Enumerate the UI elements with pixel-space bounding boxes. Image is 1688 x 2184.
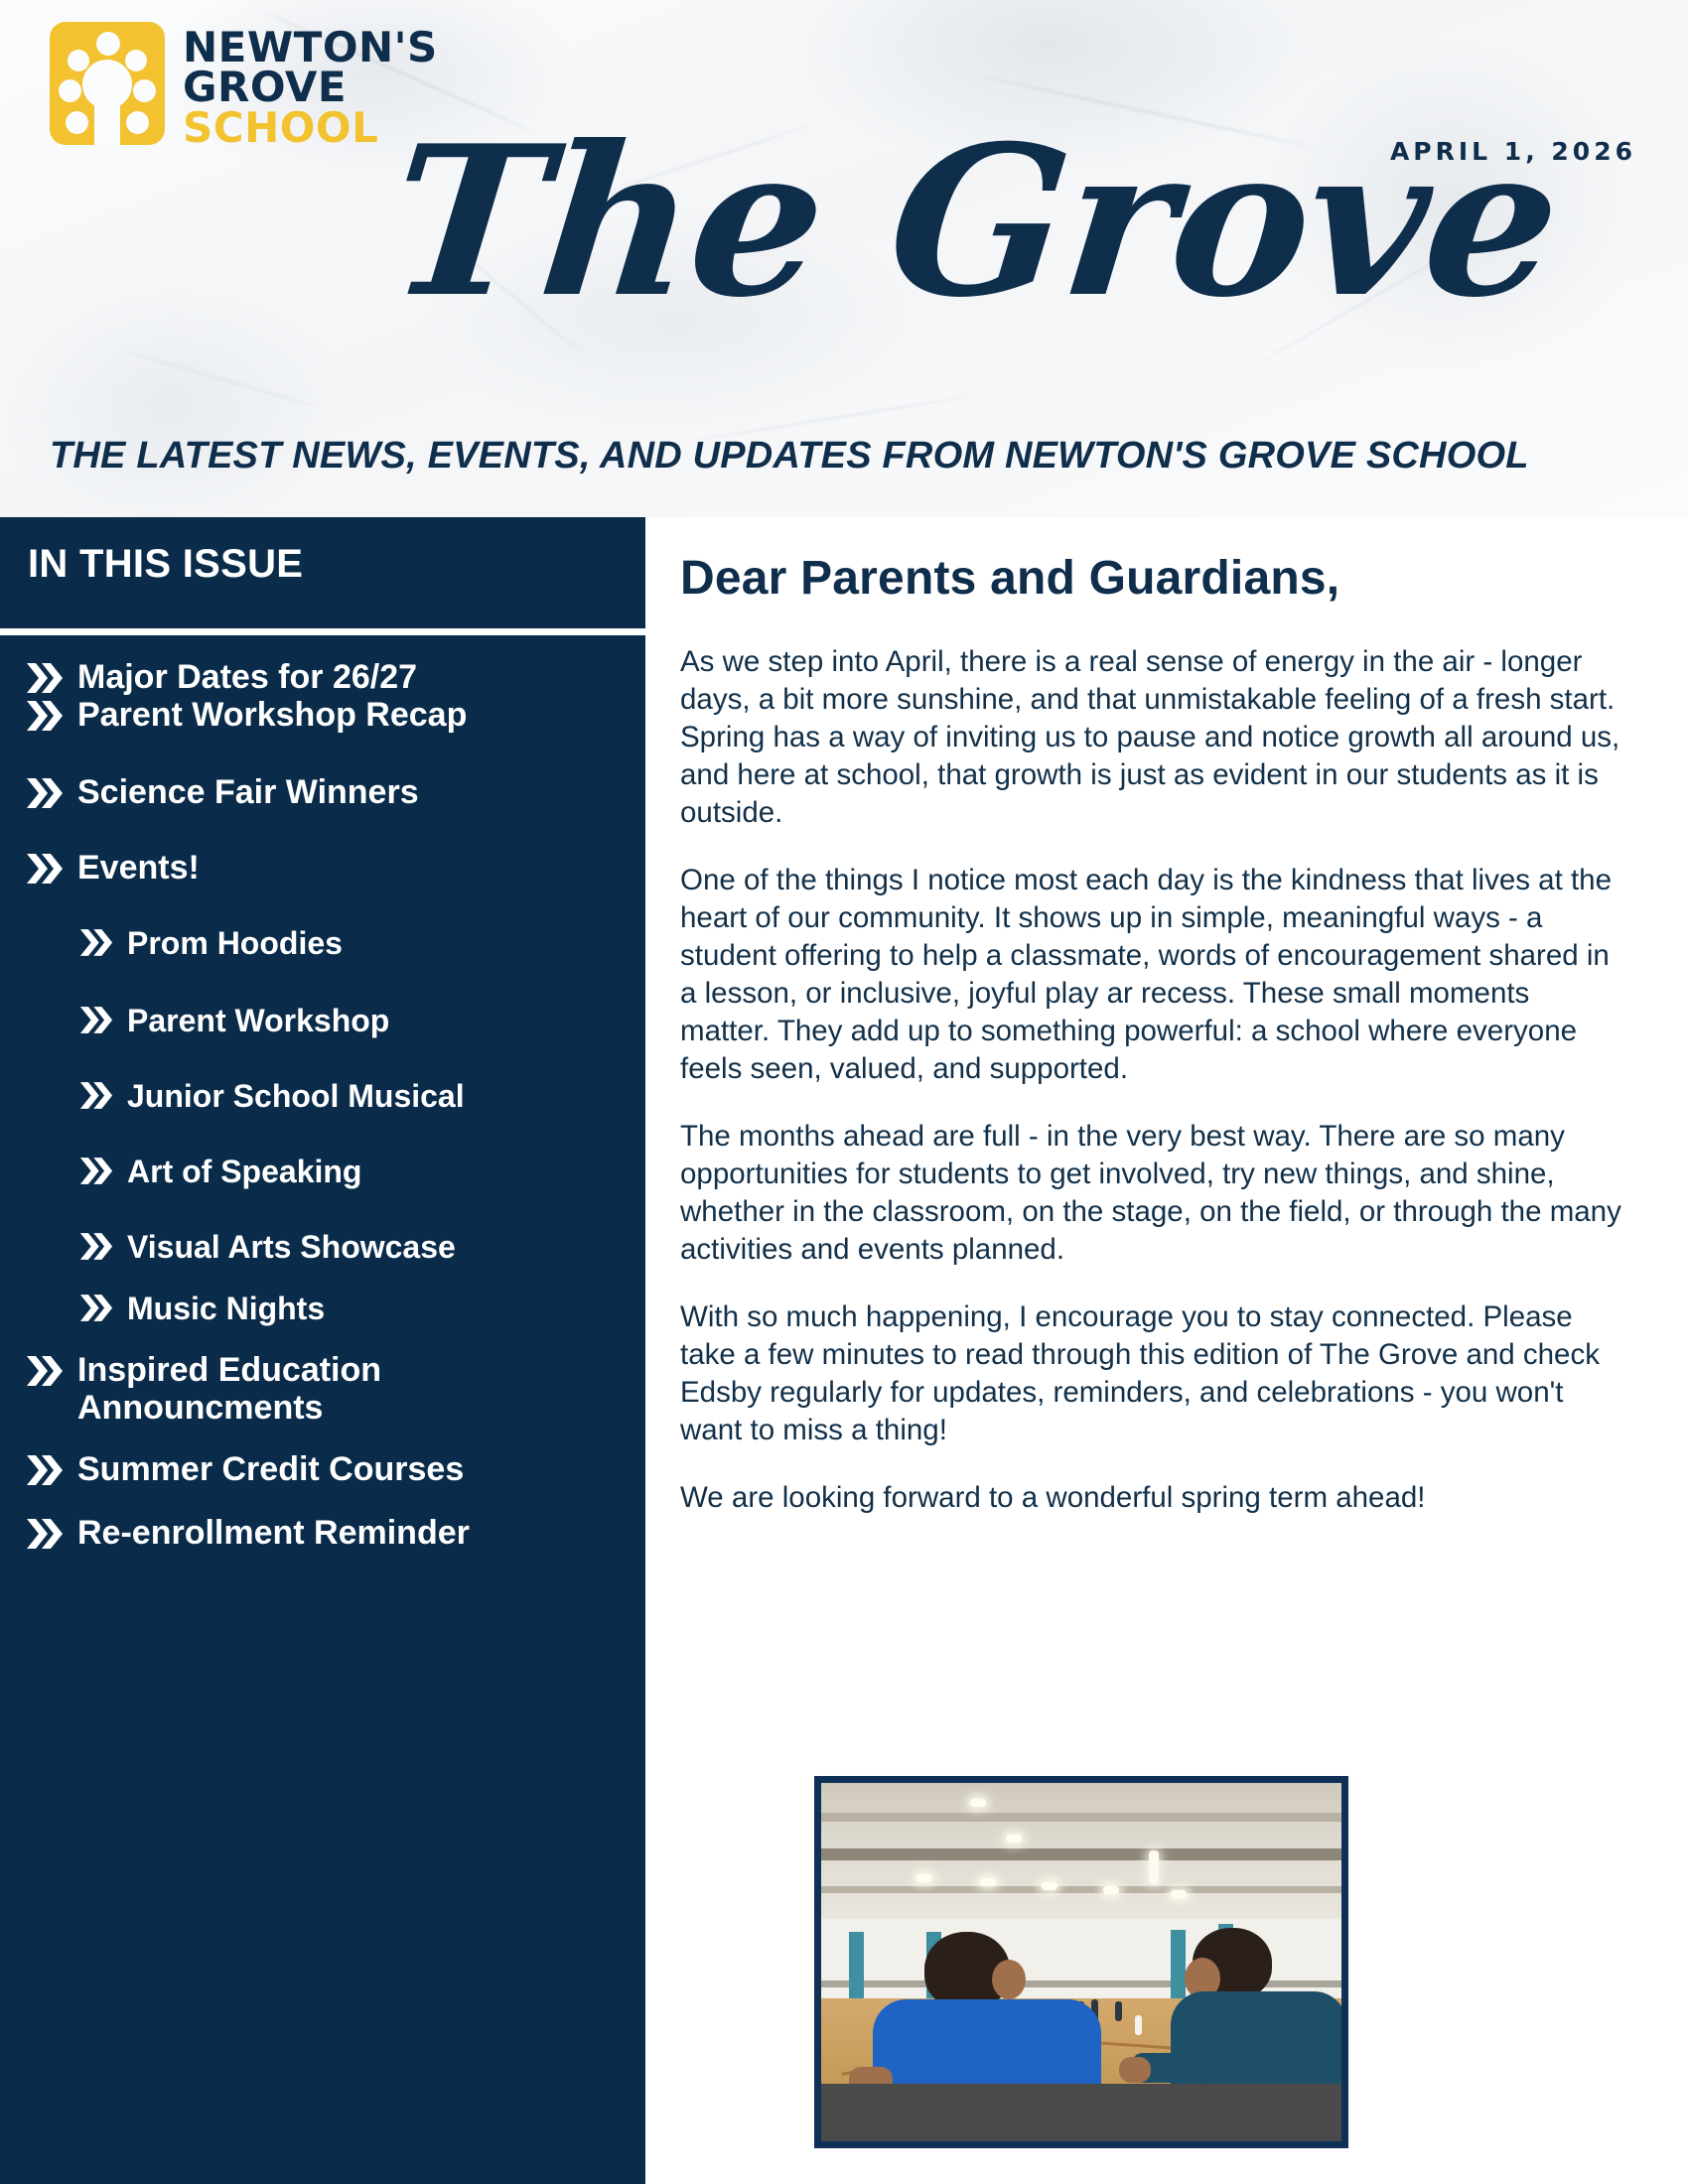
sidebar-item-label: Parent Workshop <box>127 1002 389 1039</box>
sidebar-item-label: Re-enrollment Reminder <box>77 1514 470 1552</box>
school-logo: NEWTON'S GROVE SCHOOL <box>50 22 438 149</box>
sidebar-item-major-dates-for-26-27[interactable]: Major Dates for 26/27 <box>0 658 645 696</box>
double-chevron-icon <box>79 1080 113 1111</box>
sidebar: IN THIS ISSUE Major Dates for 26/27Paren… <box>0 517 645 2184</box>
sidebar-item-summer-credit-courses[interactable]: Summer Credit Courses <box>0 1450 645 1488</box>
table-of-contents: Major Dates for 26/27Parent Workshop Rec… <box>0 658 645 1577</box>
newsletter-title: The Grove <box>381 119 1567 326</box>
sidebar-item-events[interactable]: Events! <box>0 849 645 887</box>
sidebar-item-label: Visual Arts Showcase <box>127 1228 456 1266</box>
sidebar-item-label: Events! <box>77 849 200 887</box>
newsletter-page: NEWTON'S GROVE SCHOOL APRIL 1, 2026 The … <box>0 0 1688 2184</box>
sidebar-item-visual-arts-showcase[interactable]: Visual Arts Showcase <box>0 1228 645 1266</box>
sidebar-item-parent-workshop[interactable]: Parent Workshop <box>0 1002 645 1039</box>
sidebar-item-art-of-speaking[interactable]: Art of Speaking <box>0 1153 645 1190</box>
sidebar-divider <box>0 628 645 635</box>
sidebar-item-parent-workshop-recap[interactable]: Parent Workshop Recap <box>0 696 645 734</box>
main-content: Dear Parents and Guardians, As we step i… <box>645 517 1688 2184</box>
sidebar-item-music-nights[interactable]: Music Nights <box>0 1290 645 1327</box>
double-chevron-icon <box>79 1005 113 1035</box>
sidebar-item-label: Art of Speaking <box>127 1153 361 1190</box>
letter-paragraph: With so much happening, I encourage you … <box>680 1298 1623 1449</box>
sidebar-item-prom-hoodies[interactable]: Prom Hoodies <box>0 924 645 962</box>
double-chevron-icon <box>26 776 64 810</box>
double-chevron-icon <box>26 852 64 886</box>
sidebar-item-label: Major Dates for 26/27 <box>77 658 417 696</box>
double-chevron-icon <box>26 1354 64 1388</box>
double-chevron-icon <box>26 1517 64 1551</box>
double-chevron-icon <box>79 1231 113 1262</box>
logo-line-2: GROVE <box>183 68 438 107</box>
sidebar-item-label: Science Fair Winners <box>77 773 419 811</box>
sidebar-item-label: Inspired EducationAnnouncments <box>77 1351 381 1427</box>
double-chevron-icon <box>26 699 64 733</box>
sidebar-item-inspired-education-announcments[interactable]: Inspired EducationAnnouncments <box>0 1351 645 1427</box>
double-chevron-icon <box>79 1293 113 1323</box>
sidebar-item-junior-school-musical[interactable]: Junior School Musical <box>0 1077 645 1115</box>
tagline: THE LATEST NEWS, EVENTS, AND UPDATES FRO… <box>50 435 1529 478</box>
photo-image <box>821 1783 1341 2141</box>
gymnasium-photo <box>814 1776 1348 2148</box>
logo-mark-icon <box>50 22 165 145</box>
letter-body: As we step into April, there is a real s… <box>680 643 1648 1517</box>
sidebar-item-label: Music Nights <box>127 1290 325 1327</box>
letter-heading: Dear Parents and Guardians, <box>680 551 1648 606</box>
logo-line-1: NEWTON'S <box>183 28 438 68</box>
sidebar-item-re-enrollment-reminder[interactable]: Re-enrollment Reminder <box>0 1514 645 1552</box>
letter-paragraph: As we step into April, there is a real s… <box>680 643 1623 832</box>
sidebar-item-label: Prom Hoodies <box>127 924 343 962</box>
body-columns: IN THIS ISSUE Major Dates for 26/27Paren… <box>0 517 1688 2184</box>
sidebar-title: IN THIS ISSUE <box>28 542 303 587</box>
letter-paragraph: The months ahead are full - in the very … <box>680 1118 1623 1269</box>
sidebar-item-label: Parent Workshop Recap <box>77 696 467 734</box>
letter-paragraph: We are looking forward to a wonderful sp… <box>680 1479 1623 1517</box>
marble-vein <box>123 349 315 406</box>
logo-line-3: SCHOOL <box>183 107 438 149</box>
double-chevron-icon <box>79 1156 113 1186</box>
double-chevron-icon <box>79 927 113 958</box>
double-chevron-icon <box>26 661 64 695</box>
sidebar-item-science-fair-winners[interactable]: Science Fair Winners <box>0 773 645 811</box>
sidebar-item-label: Summer Credit Courses <box>77 1450 464 1488</box>
sidebar-item-label: Junior School Musical <box>127 1077 465 1115</box>
double-chevron-icon <box>26 1453 64 1487</box>
letter-paragraph: One of the things I notice most each day… <box>680 862 1623 1088</box>
masthead: NEWTON'S GROVE SCHOOL APRIL 1, 2026 The … <box>0 0 1688 517</box>
